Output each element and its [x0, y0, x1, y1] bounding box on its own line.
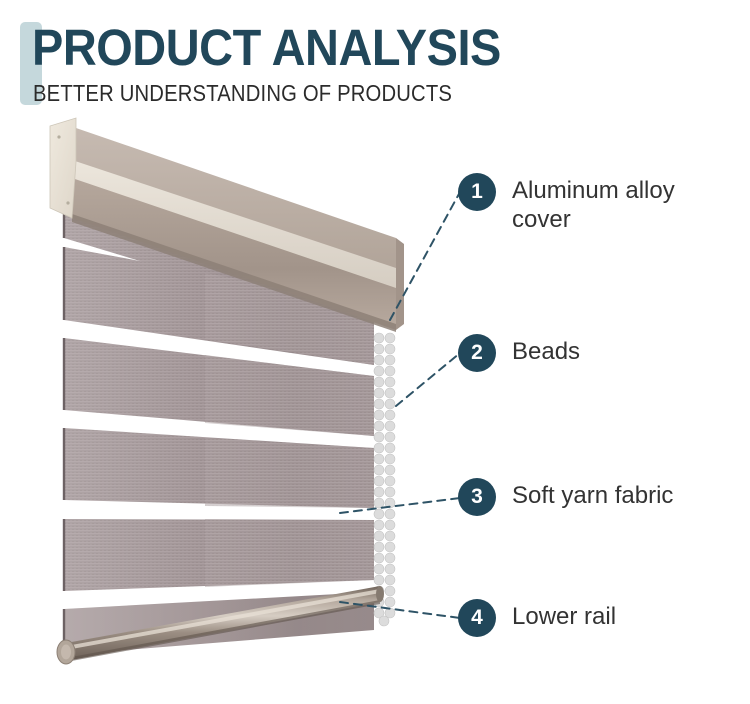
callout-badge-4: 4 — [458, 599, 496, 637]
product-illustration — [0, 110, 460, 704]
callout-1[interactable]: 1 Aluminum alloy cover — [458, 173, 675, 234]
screw-dot — [57, 135, 60, 138]
callout-badge-1: 1 — [458, 173, 496, 211]
callout-3[interactable]: 3 Soft yarn fabric — [458, 478, 673, 516]
callout-badge-3: 3 — [458, 478, 496, 516]
page-title: PRODUCT ANALYSIS — [32, 19, 501, 77]
callout-label-2: Beads — [512, 334, 580, 366]
bead-column-right — [385, 333, 395, 618]
callout-label-4: Lower rail — [512, 599, 616, 631]
bead-column-left — [374, 333, 384, 618]
header: PRODUCT ANALYSIS BETTER UNDERSTANDING OF… — [0, 0, 750, 120]
callout-label-1: Aluminum alloy cover — [512, 173, 675, 234]
callout-badge-2: 2 — [458, 334, 496, 372]
fabric-band — [64, 519, 374, 591]
fabric-band — [64, 428, 374, 508]
screw-dot — [66, 201, 69, 204]
callout-label-3: Soft yarn fabric — [512, 478, 673, 510]
page-subtitle: BETTER UNDERSTANDING OF PRODUCTS — [33, 80, 452, 107]
product-analysis-infographic: PRODUCT ANALYSIS BETTER UNDERSTANDING OF… — [0, 0, 750, 704]
bead-chain — [374, 333, 395, 626]
leader-line-2 — [396, 353, 460, 406]
callout-2[interactable]: 2 Beads — [458, 334, 580, 372]
callout-4[interactable]: 4 Lower rail — [458, 599, 616, 637]
